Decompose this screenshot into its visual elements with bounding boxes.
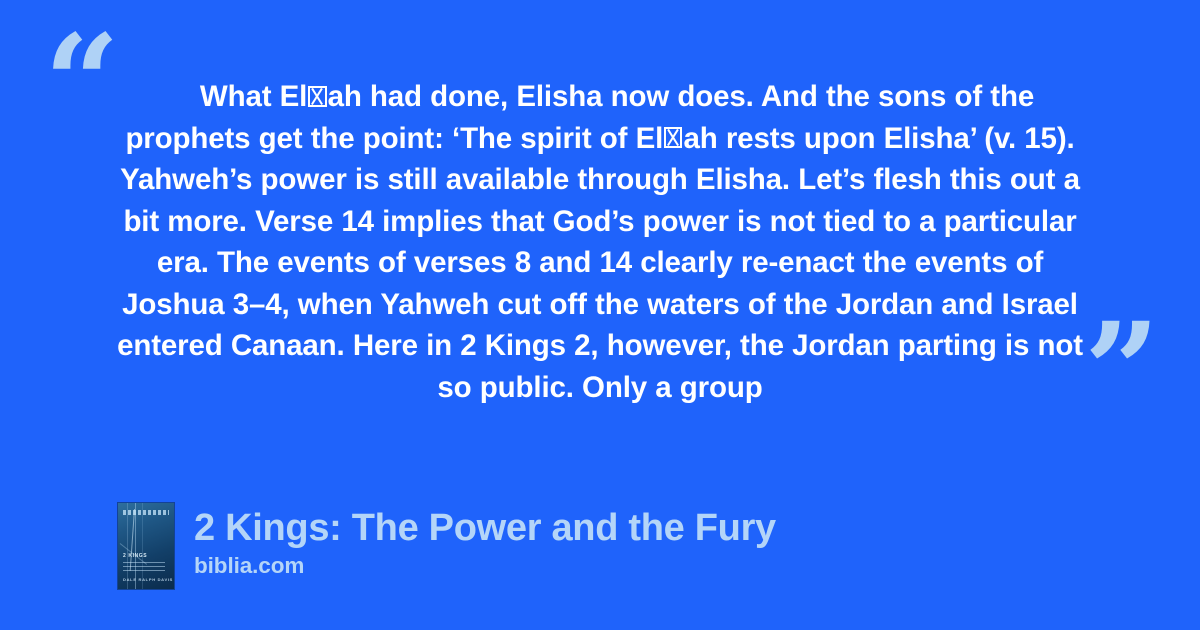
cover-author: DALE RALPH DAVIS [123, 577, 173, 582]
closing-quote-icon: ” [1084, 306, 1158, 438]
book-title[interactable]: 2 Kings: The Power and the Fury [194, 506, 776, 550]
missing-glyph-icon [664, 127, 682, 148]
quote-card: “ What Elah had done, Elisha now does. A… [0, 0, 1200, 630]
quote-text: What Elah had done, Elisha now does. And… [104, 76, 1096, 408]
footer-text-block: 2 Kings: The Power and the Fury biblia.c… [194, 503, 776, 579]
cover-top-rule [123, 510, 169, 515]
quote-segment-1: What El [200, 80, 307, 113]
footer: 2 KINGS DALE RALPH DAVIS 2 Kings: The Po… [118, 503, 776, 589]
cover-subtitle-lines [123, 562, 165, 571]
book-cover-thumbnail[interactable]: 2 KINGS DALE RALPH DAVIS [118, 503, 174, 589]
cover-title: 2 KINGS [123, 553, 147, 559]
quote-segment-3: ah rests upon Elisha’ (v. 15). Yahweh’s … [117, 122, 1083, 404]
site-name[interactable]: biblia.com [194, 553, 776, 579]
missing-glyph-icon [308, 86, 326, 107]
